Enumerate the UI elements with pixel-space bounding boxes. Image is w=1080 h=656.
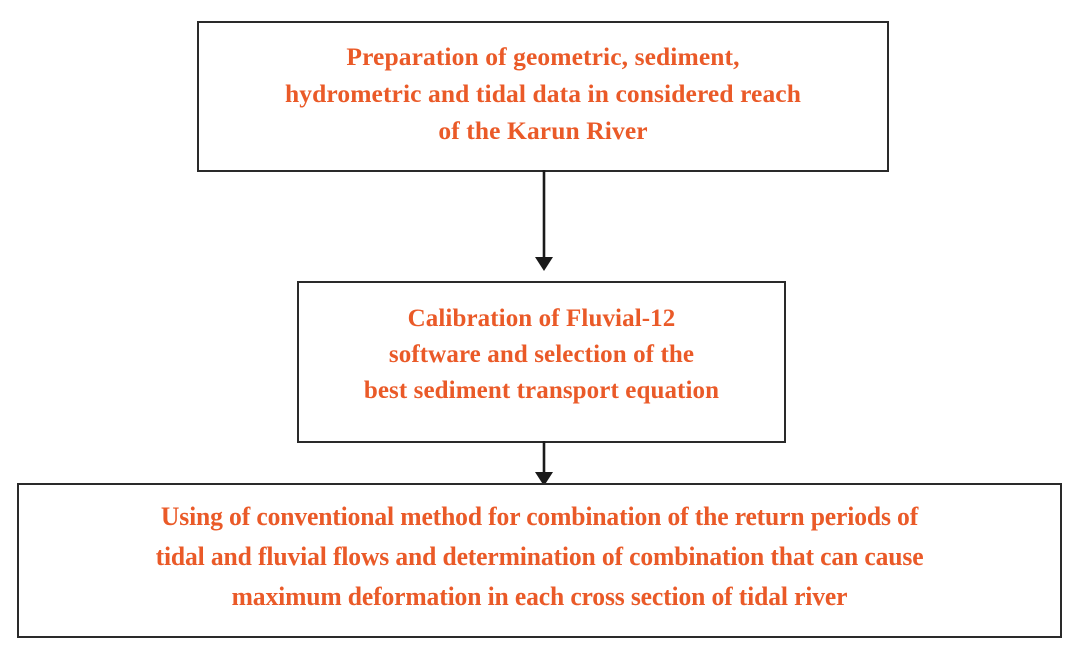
flowchart-node-conventional-label: Using of conventional method for combina… [27, 497, 1052, 617]
flowchart-connector-calibration-to-conventional [527, 441, 561, 487]
flowchart-canvas: Preparation of geometric, sediment, hydr… [0, 0, 1080, 656]
down-arrow-icon [527, 170, 561, 272]
flowchart-connector-prepare-to-calibration [527, 170, 561, 272]
flowchart-node-calibration[interactable]: Calibration of Fluvial-12 software and s… [297, 281, 786, 443]
flowchart-node-prepare[interactable]: Preparation of geometric, sediment, hydr… [197, 21, 889, 172]
down-arrow-icon [527, 441, 561, 487]
flowchart-node-prepare-label: Preparation of geometric, sediment, hydr… [199, 38, 887, 149]
flowchart-node-conventional[interactable]: Using of conventional method for combina… [17, 483, 1062, 638]
flowchart-node-calibration-label: Calibration of Fluvial-12 software and s… [299, 301, 784, 409]
